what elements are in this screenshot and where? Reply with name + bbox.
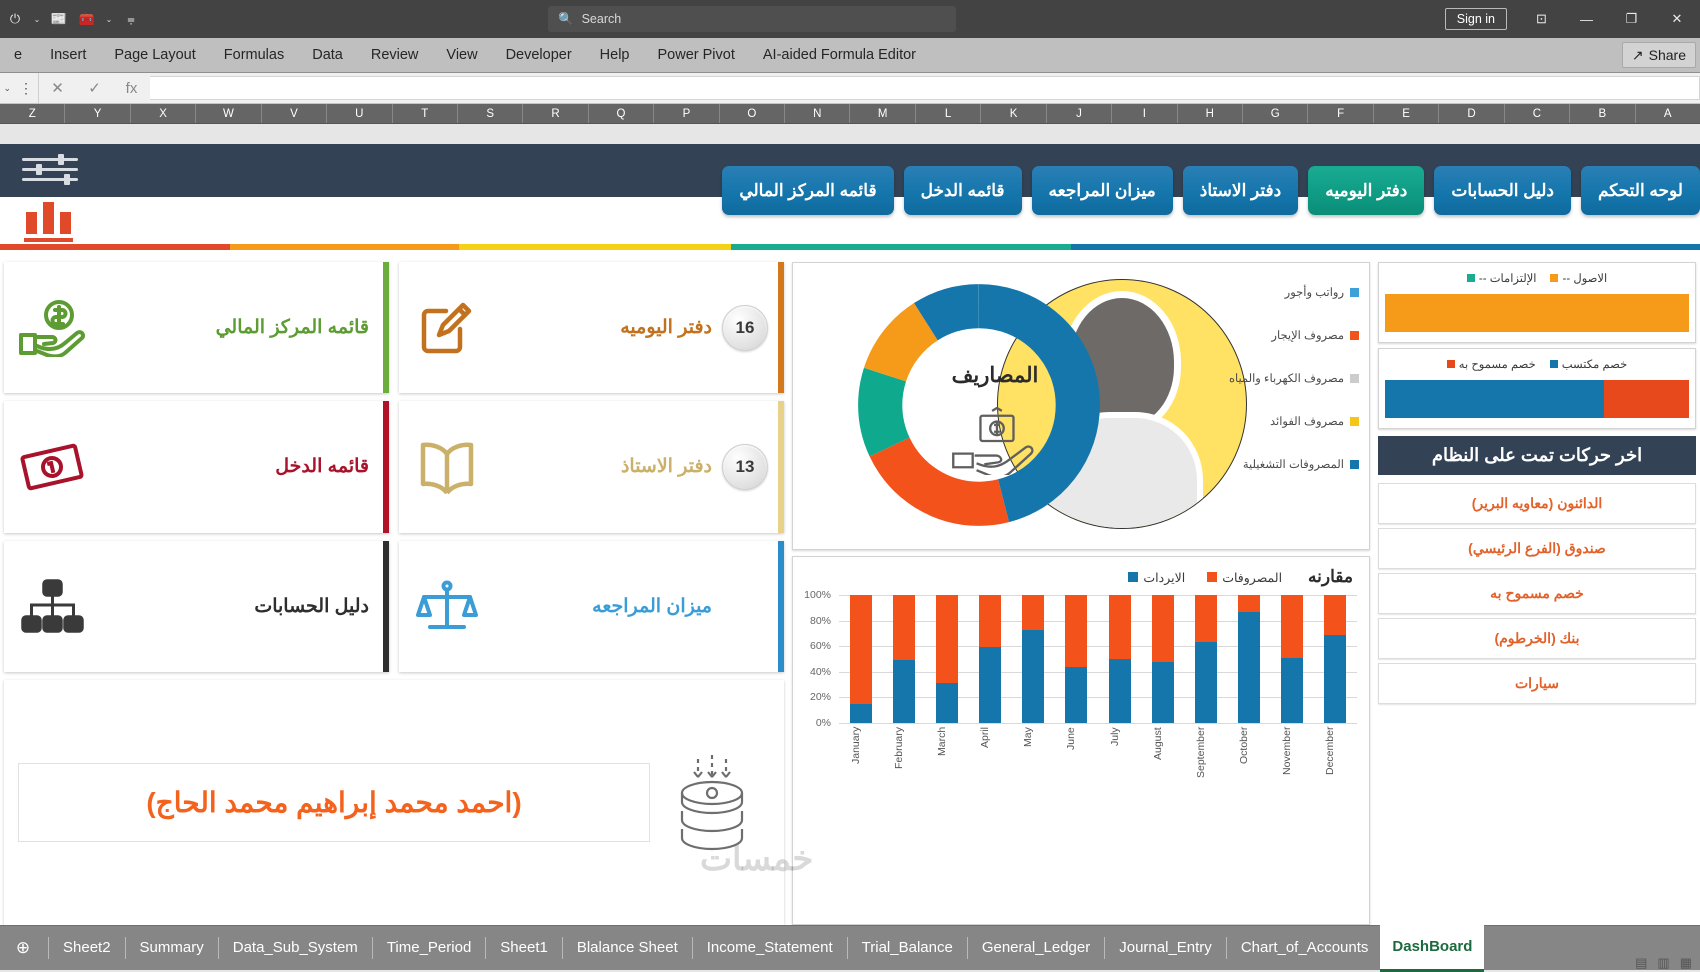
column-header[interactable]: B — [1570, 104, 1635, 123]
column-header[interactable]: W — [196, 104, 261, 123]
column-header[interactable]: E — [1374, 104, 1439, 123]
tile-label-balance-sheet: قائمه المركز المالي — [90, 316, 373, 339]
nav-tab-chart-of-accounts[interactable]: دليل الحسابات — [1434, 166, 1571, 215]
ribbon-tab-ai-formula-editor[interactable]: AI-aided Formula Editor — [749, 38, 930, 72]
bar-march — [936, 595, 958, 723]
legend-label-interest: مصروف الفوائد — [1270, 414, 1344, 428]
bar-may — [1022, 595, 1044, 723]
comparison-chart-header: مقارنه المصروفات الايردات — [801, 563, 1361, 589]
ribbon-tab-file[interactable]: e — [0, 38, 36, 72]
sheet-tab-sheet2[interactable]: Sheet2 — [51, 926, 123, 970]
nav-tab-balance-sheet[interactable]: قائمه المركز المالي — [722, 166, 893, 215]
sheet-tab-journal-entry[interactable]: Journal_Entry — [1107, 926, 1224, 970]
tile-column-2: قائمه المركز المالي — [4, 262, 389, 672]
ribbon-tab-formulas[interactable]: Formulas — [210, 38, 298, 72]
search-placeholder: Search — [582, 12, 622, 26]
column-header[interactable]: C — [1505, 104, 1570, 123]
bar-chart-logo-icon — [24, 200, 76, 242]
bar-august — [1152, 595, 1174, 723]
legend-label-liabilities: الإلتزامات -- — [1479, 271, 1537, 285]
x-tick: May — [1022, 727, 1044, 789]
discounts-chart: خصم مسموح به خصم مكتسب — [1378, 348, 1696, 429]
column-header[interactable]: I — [1112, 104, 1177, 123]
x-tick: January — [850, 727, 872, 789]
comparison-plot-area: 100% 80% 60% 40% 20% 0% — [801, 595, 1361, 723]
discount-earned-segment — [1385, 380, 1604, 418]
worksheet-dashboard: قائمه المركز المالي قائمه الدخل ميزان ال… — [0, 144, 1700, 925]
minimize-button[interactable]: — — [1564, 0, 1609, 38]
legend-swatch-operating — [1350, 460, 1359, 469]
bar-september — [1195, 595, 1217, 723]
banknote-icon — [14, 435, 90, 499]
legend-label-discount-allowed: خصم مسموح به — [1459, 357, 1536, 371]
tile-general-ledger[interactable]: 13 دفتر الاستاذ — [399, 401, 784, 532]
list-item[interactable]: سيارات — [1378, 663, 1696, 704]
quick-access-toolbar[interactable]: ⏻ ⌄ 📰 🧰 ⌄ ⩦ — [0, 6, 144, 32]
bar-july — [1109, 595, 1131, 723]
column-header[interactable]: R — [523, 104, 588, 123]
sheet-tab-time-period[interactable]: Time_Period — [375, 926, 483, 970]
dashboard-center-column: المصاريف — [792, 262, 1370, 925]
legend-label-expenses: المصروفات — [1222, 570, 1282, 585]
dashboard-left-column: 16 دفتر اليوميه — [4, 262, 784, 925]
dashboard-body: الإلتزامات -- الاصول -- خصم مسموح به — [0, 256, 1700, 925]
bar-june — [1065, 595, 1087, 723]
column-header[interactable]: T — [393, 104, 458, 123]
list-item[interactable]: بنك (الخرطوم) — [1378, 618, 1696, 659]
column-header[interactable]: X — [131, 104, 196, 123]
sheet-tab-bar: ⊕ Sheet2 Summary Data_Sub_System Time_Pe… — [0, 925, 1700, 970]
column-header[interactable]: P — [654, 104, 719, 123]
tile-journal-ledger[interactable]: 16 دفتر اليوميه — [399, 262, 784, 393]
ribbon-tab-view[interactable]: View — [432, 38, 491, 72]
legend-label-assets: الاصول -- — [1562, 271, 1607, 285]
dashboard-nav-tabs: قائمه المركز المالي قائمه الدخل ميزان ال… — [722, 166, 1700, 216]
recent-transactions-title: اخر حركات تمت على النظام — [1378, 436, 1696, 475]
column-header[interactable]: Q — [589, 104, 654, 123]
hand-money-icon — [947, 407, 1045, 475]
ribbon-tab-review[interactable]: Review — [357, 38, 433, 72]
ribbon-tab-developer[interactable]: Developer — [492, 38, 586, 72]
tile-column-1: 16 دفتر اليوميه — [399, 262, 784, 672]
tile-chart-of-accounts[interactable]: دليل الحسابات — [4, 541, 389, 672]
x-axis-labels: January February March April May June Ju… — [839, 727, 1357, 789]
y-tick-0: 0% — [816, 717, 831, 729]
cancel-icon[interactable]: ✕ — [39, 73, 76, 103]
comparison-chart-legend: المصروفات الايردات — [1128, 570, 1282, 585]
column-header[interactable]: N — [785, 104, 850, 123]
close-button[interactable]: ✕ — [1654, 0, 1700, 38]
bar-february — [893, 595, 915, 723]
legend-swatch-assets — [1550, 274, 1558, 282]
comparison-bar-panel: مقارنه المصروفات الايردات — [792, 556, 1370, 925]
restore-button[interactable]: ❐ — [1609, 0, 1654, 38]
autosave-icon[interactable]: ⏻ — [2, 6, 28, 32]
share-label: Share — [1649, 47, 1686, 63]
legend-label-rent: مصروف الإيجار — [1271, 328, 1344, 342]
y-tick-80: 80% — [810, 615, 831, 627]
tile-label-trial: ميزان المراجعه — [485, 595, 716, 618]
add-sheet-button[interactable]: ⊕ — [0, 938, 46, 958]
legend-item-discount-allowed: خصم مسموح به — [1447, 357, 1536, 371]
assets-bar-segment — [1385, 294, 1689, 332]
x-tick: February — [893, 727, 915, 789]
legend-label-salaries: رواتب وأجور — [1285, 285, 1344, 299]
column-header[interactable]: K — [981, 104, 1046, 123]
discounts-bar — [1385, 380, 1689, 418]
tile-label-chart-accounts: دليل الحسابات — [90, 595, 373, 618]
legend-item-discount-earned: خصم مكتسب — [1550, 357, 1627, 371]
sheet-tab-sheet1[interactable]: Sheet1 — [488, 926, 560, 970]
sheet-tab-income-statement[interactable]: Income_Statement — [695, 926, 845, 970]
ribbon-tab-page-layout[interactable]: Page Layout — [100, 38, 209, 72]
column-header[interactable]: D — [1439, 104, 1504, 123]
column-header[interactable]: Z — [0, 104, 65, 123]
tile-label-ledger: دفتر الاستاذ — [485, 455, 716, 478]
hand-money-tile-icon — [14, 296, 90, 360]
coins-stack-icon — [660, 755, 770, 851]
assets-bar — [1385, 294, 1689, 332]
x-tick: September — [1195, 727, 1217, 789]
column-headers: Z Y X W V U T S R Q P O N M L K J I H G … — [0, 104, 1700, 124]
column-header[interactable]: J — [1047, 104, 1112, 123]
formula-bar-buttons: ✕ ✓ fx — [38, 73, 150, 103]
tile-balance-sheet[interactable]: قائمه المركز المالي — [4, 262, 389, 393]
list-item[interactable]: خصم مسموح به — [1378, 573, 1696, 614]
edit-note-icon — [409, 296, 485, 360]
sign-in-button[interactable]: Sign in — [1445, 8, 1507, 30]
bar-january — [850, 595, 872, 723]
column-header[interactable]: A — [1636, 104, 1700, 123]
comparison-chart-title: مقارنه — [1308, 567, 1353, 587]
discounts-legend: خصم مسموح به خصم مكتسب — [1385, 357, 1689, 371]
confirm-check-icon[interactable]: ✓ — [76, 73, 113, 103]
nav-tab-journal[interactable]: دفتر اليوميه — [1308, 166, 1424, 215]
ribbon-tab-data[interactable]: Data — [298, 38, 357, 72]
donut-center-title: المصاريف — [915, 363, 1075, 388]
nav-tab-trial-balance[interactable]: ميزان المراجعه — [1032, 166, 1173, 215]
column-header[interactable]: H — [1178, 104, 1243, 123]
donut-legend: رواتب وأجور مصروف الإيجار مصروف الكهرباء… — [1169, 285, 1359, 471]
legend-item-revenue: الايردات — [1128, 570, 1185, 585]
sheet-tab-dashboard[interactable]: DashBoard — [1380, 925, 1484, 972]
legend-swatch-rent — [1350, 331, 1359, 340]
org-chart-icon — [14, 574, 90, 638]
chevron-down-icon[interactable]: ⌄ — [30, 15, 44, 24]
workbook-icon[interactable]: 📰 — [46, 6, 72, 32]
dashboard-header: قائمه المركز المالي قائمه الدخل ميزان ال… — [0, 144, 1700, 250]
legend-item-assets: الاصول -- — [1550, 271, 1607, 285]
sheet-tab-trial-balance[interactable]: Trial_Balance — [850, 926, 965, 970]
column-header[interactable]: Y — [65, 104, 130, 123]
column-header[interactable]: M — [850, 104, 915, 123]
briefcase-icon[interactable]: 🧰 — [74, 6, 100, 32]
x-tick: July — [1109, 727, 1131, 789]
y-tick-100: 100% — [804, 589, 831, 601]
legend-item-liabilities: الإلتزامات -- — [1467, 271, 1537, 285]
nav-tab-general-ledger[interactable]: دفتر الاستاذ — [1183, 166, 1298, 215]
legend-item-interest: مصروف الفوائد — [1169, 414, 1359, 428]
nav-tab-income-statement[interactable]: قائمه الدخل — [904, 166, 1022, 215]
tile-income-statement[interactable]: قائمه الدخل — [4, 401, 389, 532]
sheet-tab-balance-sheet[interactable]: Blalance Sheet — [565, 926, 690, 970]
menu-tiles: 16 دفتر اليوميه — [4, 262, 784, 672]
legend-item-utilities: مصروف الكهرباء والمياه — [1169, 371, 1359, 385]
column-header[interactable]: G — [1243, 104, 1308, 123]
x-tick: March — [936, 727, 958, 789]
x-tick: April — [979, 727, 1001, 789]
sheet-tab-data-sub-system[interactable]: Data_Sub_System — [221, 926, 370, 970]
legend-item-operating: المصروفات التشغيلية — [1169, 457, 1359, 471]
x-tick: November — [1281, 727, 1303, 789]
nav-tab-control-panel[interactable]: لوحه التحكم — [1581, 166, 1700, 215]
bar-october — [1238, 595, 1260, 723]
ribbon-display-options-icon[interactable]: ⊡ — [1519, 0, 1564, 38]
sheet-tab-summary[interactable]: Summary — [128, 926, 216, 970]
formula-bar-overflow-icon[interactable]: ⋮ — [14, 80, 38, 97]
legend-label-revenue: الايردات — [1143, 570, 1185, 585]
tile-label-income: قائمه الدخل — [90, 455, 373, 478]
customize-qat-icon[interactable]: ⩦ — [118, 6, 144, 32]
x-tick: June — [1065, 727, 1087, 789]
bar-december — [1324, 595, 1346, 723]
name-box[interactable]: ⌄ — [0, 83, 14, 94]
ribbon-tab-power-pivot[interactable]: Power Pivot — [644, 38, 749, 72]
expenses-donut-panel: المصاريف — [792, 262, 1370, 550]
legend-label-utilities: مصروف الكهرباء والمياه — [1229, 371, 1344, 385]
column-header[interactable]: L — [916, 104, 981, 123]
open-book-icon — [409, 435, 485, 499]
recent-transactions-list: الدائنون (معاويه البرير) صندوق (الفرع ال… — [1378, 483, 1696, 704]
legend-swatch-interest — [1350, 417, 1359, 426]
y-tick-60: 60% — [810, 640, 831, 652]
assets-liabilities-chart: الإلتزامات -- الاصول -- — [1378, 262, 1696, 343]
list-item[interactable]: صندوق (الفرع الرئيسي) — [1378, 528, 1696, 569]
page-layout-icon[interactable]: ▥ — [1657, 955, 1669, 971]
owner-name-panel: (احمد محمد إبراهيم محمد الحاج) — [4, 680, 784, 925]
legend-swatch-discount-allowed — [1447, 360, 1455, 368]
settings-sliders-icon — [22, 154, 78, 188]
owner-name: (احمد محمد إبراهيم محمد الحاج) — [18, 763, 650, 842]
legend-item-rent: مصروف الإيجار — [1169, 328, 1359, 342]
window-controls: Sign in ⊡ — ❐ ✕ — [1445, 0, 1700, 38]
share-button[interactable]: ↗ Share — [1622, 42, 1696, 68]
chevron-down-icon-2[interactable]: ⌄ — [102, 15, 116, 24]
column-header[interactable]: F — [1308, 104, 1373, 123]
legend-label-discount-earned: خصم مكتسب — [1562, 357, 1627, 371]
status-bar-view-icons: ▤ ▥ ▦ — [1635, 955, 1692, 971]
ribbon-tabs: e Insert Page Layout Formulas Data Revie… — [0, 38, 1700, 72]
legend-swatch-expenses — [1207, 572, 1217, 582]
tile-label-journal: دفتر اليوميه — [485, 316, 716, 339]
formula-input[interactable] — [150, 76, 1700, 100]
share-icon: ↗ — [1632, 47, 1644, 64]
legend-swatch-utilities — [1350, 374, 1359, 383]
legend-item-salaries: رواتب وأجور — [1169, 285, 1359, 299]
insert-function-icon[interactable]: fx — [113, 73, 150, 103]
formula-bar: ⌄ ⋮ ✕ ✓ fx — [0, 72, 1700, 104]
normal-view-icon[interactable]: ▤ — [1635, 955, 1647, 971]
bars-area — [839, 595, 1357, 723]
search-box[interactable]: 🔍 Search — [548, 6, 956, 32]
column-header[interactable]: U — [327, 104, 392, 123]
column-header[interactable]: V — [262, 104, 327, 123]
legend-swatch-discount-earned — [1550, 360, 1558, 368]
bar-april — [979, 595, 1001, 723]
ribbon-tab-help[interactable]: Help — [586, 38, 644, 72]
expenses-donut-chart — [849, 275, 1109, 535]
legend-item-expenses: المصروفات — [1207, 570, 1282, 585]
bar-november — [1281, 595, 1303, 723]
x-tick: August — [1152, 727, 1174, 789]
tile-badge-journal: 16 — [722, 305, 768, 351]
rainbow-divider — [0, 244, 1700, 250]
dashboard-right-column: الإلتزامات -- الاصول -- خصم مسموح به — [1378, 262, 1696, 925]
column-header[interactable]: S — [458, 104, 523, 123]
scales-icon — [409, 574, 485, 638]
x-tick: December — [1324, 727, 1346, 789]
legend-label-operating: المصروفات التشغيلية — [1243, 457, 1344, 471]
title-bar: ⏻ ⌄ 📰 🧰 ⌄ ⩦ النظام المحاسبي-102 - Excel … — [0, 0, 1700, 38]
y-tick-20: 20% — [810, 691, 831, 703]
tile-trial-balance[interactable]: ميزان المراجعه — [399, 541, 784, 672]
search-icon: 🔍 — [558, 12, 574, 27]
page-break-view-icon[interactable]: ▦ — [1680, 955, 1692, 971]
tile-badge-ledger: 13 — [722, 444, 768, 490]
legend-swatch-revenue — [1128, 572, 1138, 582]
y-tick-40: 40% — [810, 666, 831, 678]
list-item[interactable]: الدائنون (معاويه البرير) — [1378, 483, 1696, 524]
sheet-tab-general-ledger[interactable]: General_Ledger — [970, 926, 1102, 970]
x-tick: October — [1238, 727, 1260, 789]
column-header[interactable]: O — [720, 104, 785, 123]
legend-swatch-liabilities — [1467, 274, 1475, 282]
y-axis-labels: 100% 80% 60% 40% 20% 0% — [801, 595, 835, 723]
sheet-tab-chart-of-accounts[interactable]: Chart_of_Accounts — [1229, 926, 1381, 970]
ribbon-tab-insert[interactable]: Insert — [36, 38, 100, 72]
legend-swatch-salaries — [1350, 288, 1359, 297]
assets-liabilities-legend: الإلتزامات -- الاصول -- — [1385, 271, 1689, 285]
discount-allowed-segment — [1604, 380, 1689, 418]
